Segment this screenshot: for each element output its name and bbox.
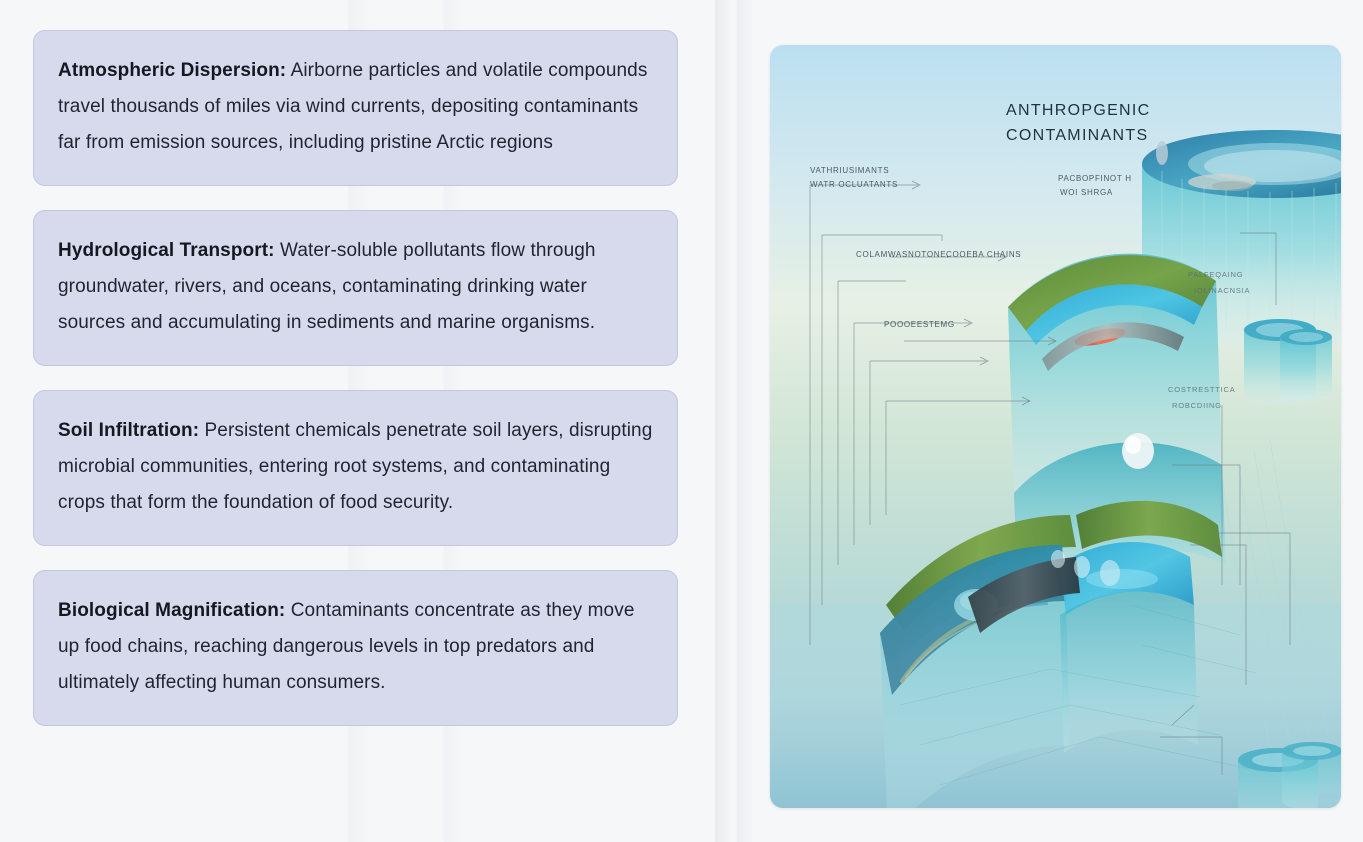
label-mid-right-line2: IOLINACNSIA <box>1194 286 1250 295</box>
card-text: Soil Infiltration: Persistent chemicals … <box>58 413 653 521</box>
contaminant-pathway-illustration: ANTHROPGENIC CONTAMINANTS VATHRIUSIMANTS… <box>770 45 1341 808</box>
label-upper-left-line2: WATR OCLUATANTS <box>810 180 898 189</box>
card-text: Biological Magnification: Contaminants c… <box>58 593 653 701</box>
card-term: Hydrological Transport: <box>58 240 275 261</box>
card-term: Soil Infiltration: <box>58 420 199 441</box>
label-mid-left-line1: COLAMWASNOTONE, <box>856 250 949 259</box>
label-lower-right-line1: COSTRESTTICA <box>1168 385 1236 394</box>
card-hydrological-transport: Hydrological Transport: Water-soluble po… <box>33 210 678 366</box>
figure-title-line1: ANTHROPGENIC <box>1006 102 1151 119</box>
label-mid-right-line1: PALFEQAING <box>1188 270 1243 279</box>
label-mid-left-line2: COOEBA CHAINS <box>946 250 1021 259</box>
illustration-svg: ANTHROPGENIC CONTAMINANTS VATHRIUSIMANTS… <box>770 45 1341 808</box>
cylinder-pair-right <box>1244 319 1332 405</box>
label-upper-left-line1: VATHRIUSIMANTS <box>810 166 889 175</box>
figure-title-line2: CONTAMINANTS <box>1006 127 1148 144</box>
card-text: Hydrological Transport: Water-soluble po… <box>58 233 653 341</box>
cylinder-pair-lower-right <box>1238 742 1341 808</box>
card-term: Atmospheric Dispersion: <box>58 60 286 81</box>
white-sphere-accent <box>1122 433 1154 469</box>
card-term: Biological Magnification: <box>58 600 285 621</box>
page-root: Atmospheric Dispersion: Airborne particl… <box>0 0 1363 842</box>
card-text: Atmospheric Dispersion: Airborne particl… <box>58 53 653 161</box>
card-soil-infiltration: Soil Infiltration: Persistent chemicals … <box>33 390 678 546</box>
label-upper-right-line1: PACBOPFINOT H <box>1058 174 1132 183</box>
label-lower-right-line2: ROBCDIING <box>1172 401 1222 410</box>
card-atmospheric-dispersion: Atmospheric Dispersion: Airborne particl… <box>33 30 678 186</box>
label-upper-right-line2: WOI SHRGA <box>1060 188 1113 197</box>
pathway-cards-column: Atmospheric Dispersion: Airborne particl… <box>0 0 683 726</box>
label-lower-left-line1: POOOEESTEMG <box>884 320 955 329</box>
card-biological-magnification: Biological Magnification: Contaminants c… <box>33 570 678 726</box>
